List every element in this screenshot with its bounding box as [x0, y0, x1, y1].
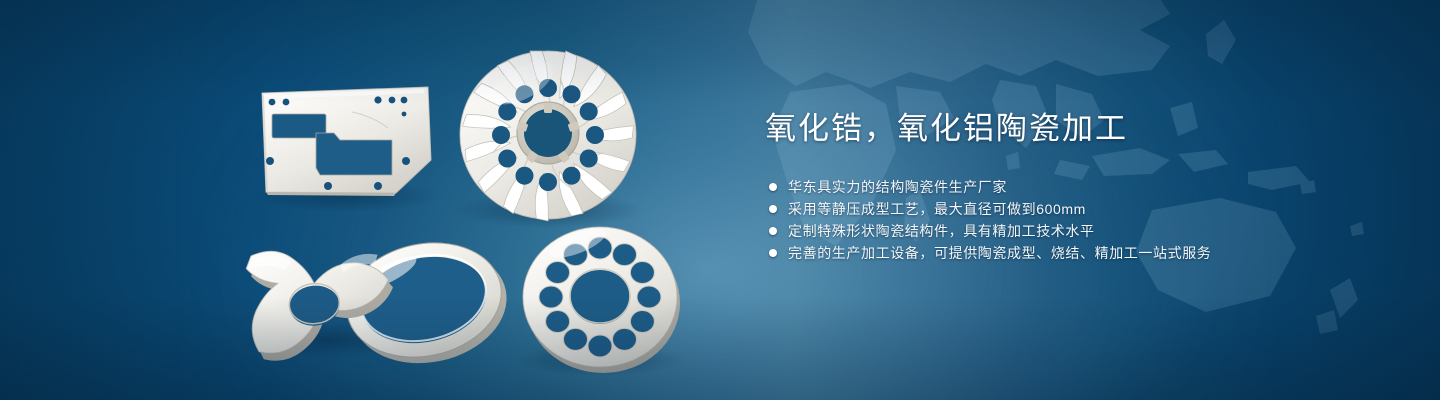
feature-text: 采用等静压成型工艺，最大直径可做到600mm: [788, 198, 1086, 220]
list-item: 定制特殊形状陶瓷结构件，具有精加工技术水平: [769, 220, 1385, 242]
banner-copy: 氧化锆，氧化铝陶瓷加工 华东具实力的结构陶瓷件生产厂家 采用等静压成型工艺，最大…: [765, 108, 1385, 264]
bullet-dot-icon: [769, 227, 777, 235]
feature-text: 完善的生产加工设备，可提供陶瓷成型、烧结、精加工一站式服务: [788, 242, 1211, 264]
feature-list: 华东具实力的结构陶瓷件生产厂家 采用等静压成型工艺，最大直径可做到600mm 定…: [769, 176, 1385, 264]
list-item: 华东具实力的结构陶瓷件生产厂家: [769, 176, 1385, 198]
list-item: 采用等静压成型工艺，最大直径可做到600mm: [769, 198, 1385, 220]
banner-headline: 氧化锆，氧化铝陶瓷加工: [765, 108, 1385, 150]
promo-banner: 氧化锆，氧化铝陶瓷加工 华东具实力的结构陶瓷件生产厂家 采用等静压成型工艺，最大…: [0, 0, 1440, 400]
list-item: 完善的生产加工设备，可提供陶瓷成型、烧结、精加工一站式服务: [769, 242, 1385, 264]
bullet-dot-icon: [769, 205, 777, 213]
feature-text: 定制特殊形状陶瓷结构件，具有精加工技术水平: [788, 220, 1095, 242]
bullet-dot-icon: [769, 249, 777, 257]
bullet-dot-icon: [769, 183, 777, 191]
feature-text: 华东具实力的结构陶瓷件生产厂家: [788, 176, 1007, 198]
